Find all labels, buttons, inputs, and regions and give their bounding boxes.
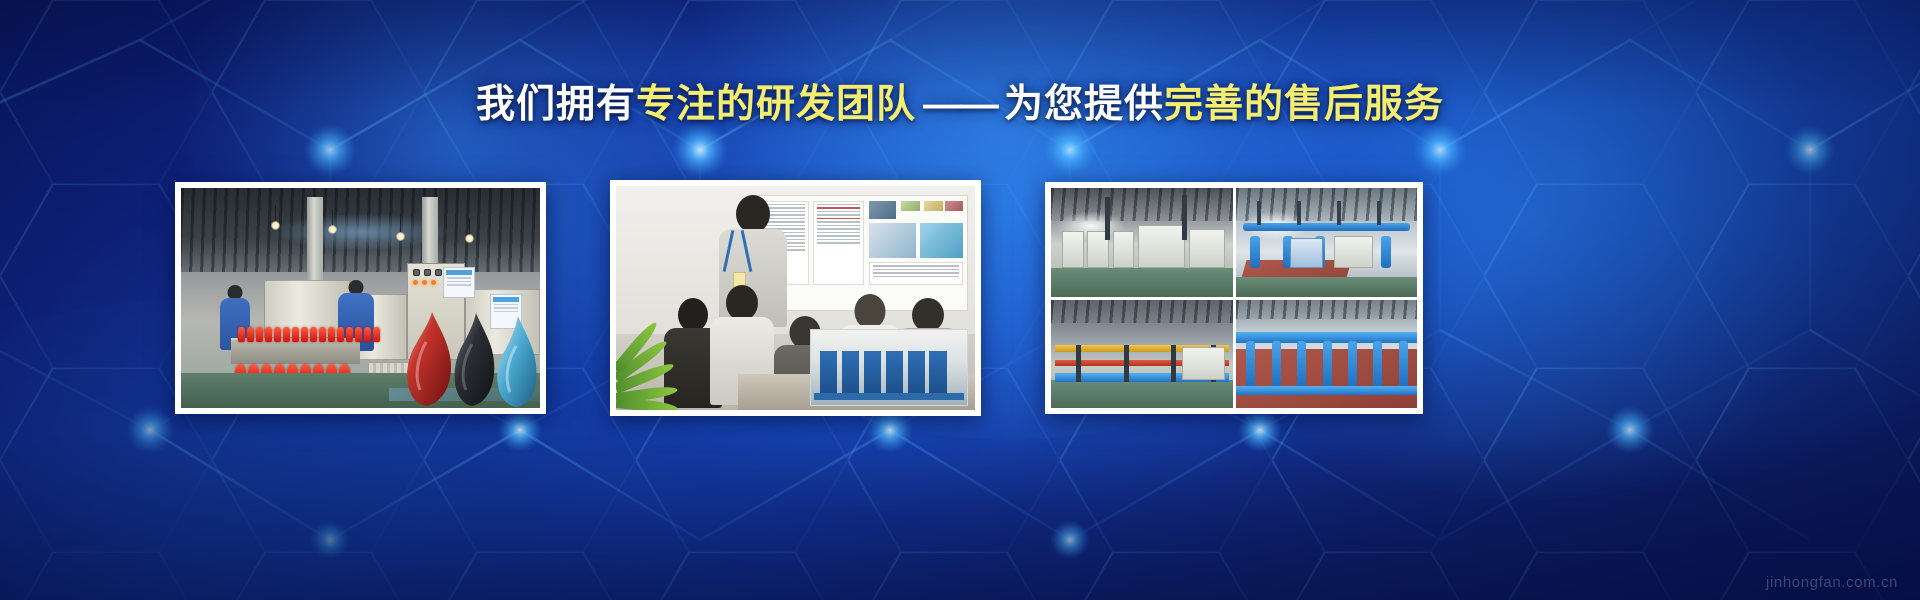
headline-dash: ——	[916, 82, 1004, 128]
collage-cell-bottom-right	[1236, 300, 1418, 409]
photo-team-meeting	[610, 180, 981, 416]
headline-segment-1: 我们拥有	[476, 83, 636, 126]
promo-banner: 我们拥有专注的研发团队——为您提供完善的售后服务	[0, 0, 1920, 600]
collage-cell-top-left	[1051, 188, 1233, 297]
foreground-plant	[616, 320, 709, 410]
headline-segment-4: 完善的售后服务	[1164, 83, 1444, 126]
site-watermark: jinhongfan.com.cn	[1766, 574, 1898, 591]
headline-segment-2: 专注的研发团队	[636, 83, 916, 126]
photo-equipment-collage	[1045, 182, 1423, 414]
photo-factory-production-line	[175, 182, 546, 414]
collage-cell-bottom-left	[1051, 300, 1233, 409]
headline-segment-3: 为您提供	[1004, 83, 1164, 126]
photo-row	[0, 182, 1920, 414]
banner-headline: 我们拥有专注的研发团队——为您提供完善的售后服务	[0, 82, 1920, 128]
collage-cell-top-right	[1236, 188, 1418, 297]
